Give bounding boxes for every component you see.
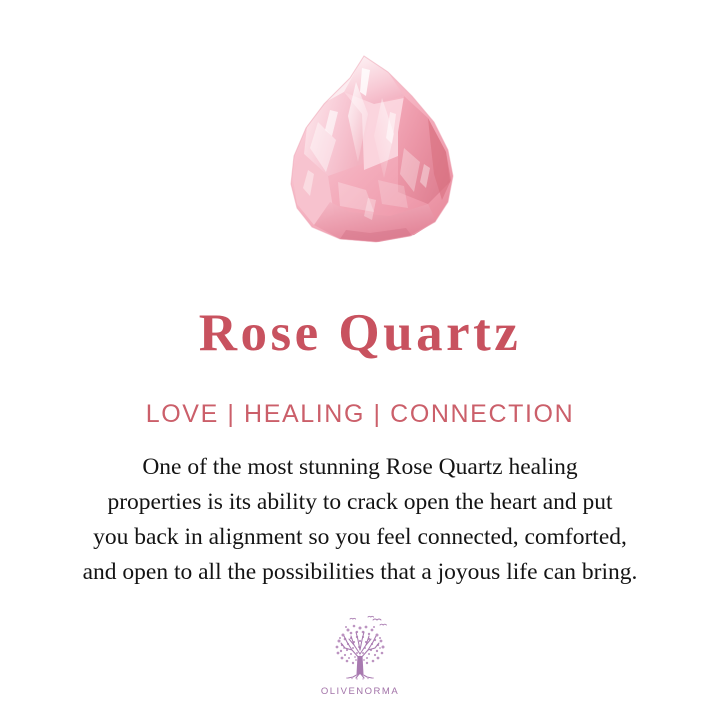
brand-wordmark: OLIVENORMA [0, 686, 720, 697]
hero-image-area [0, 44, 720, 258]
brand-logo: OLIVENORMA [0, 612, 720, 697]
paragraph-line: One of the most stunning Rose Quartz hea… [24, 450, 696, 485]
paragraph-line: and open to all the possibilities that a… [24, 555, 696, 590]
paragraph-line: you back in alignment so you feel connec… [24, 520, 696, 555]
rose-quartz-info-card: Rose Quartz LOVE | HEALING | CONNECTION … [0, 0, 720, 720]
keyword-tagline: LOVE | HEALING | CONNECTION [0, 399, 720, 429]
page-title: Rose Quartz [0, 303, 720, 363]
description-paragraph: One of the most stunning Rose Quartz hea… [24, 450, 696, 590]
paragraph-line: properties is its ability to crack open … [24, 485, 696, 520]
tree-of-life-icon [323, 612, 397, 684]
rose-quartz-crystal-photo [278, 52, 464, 248]
